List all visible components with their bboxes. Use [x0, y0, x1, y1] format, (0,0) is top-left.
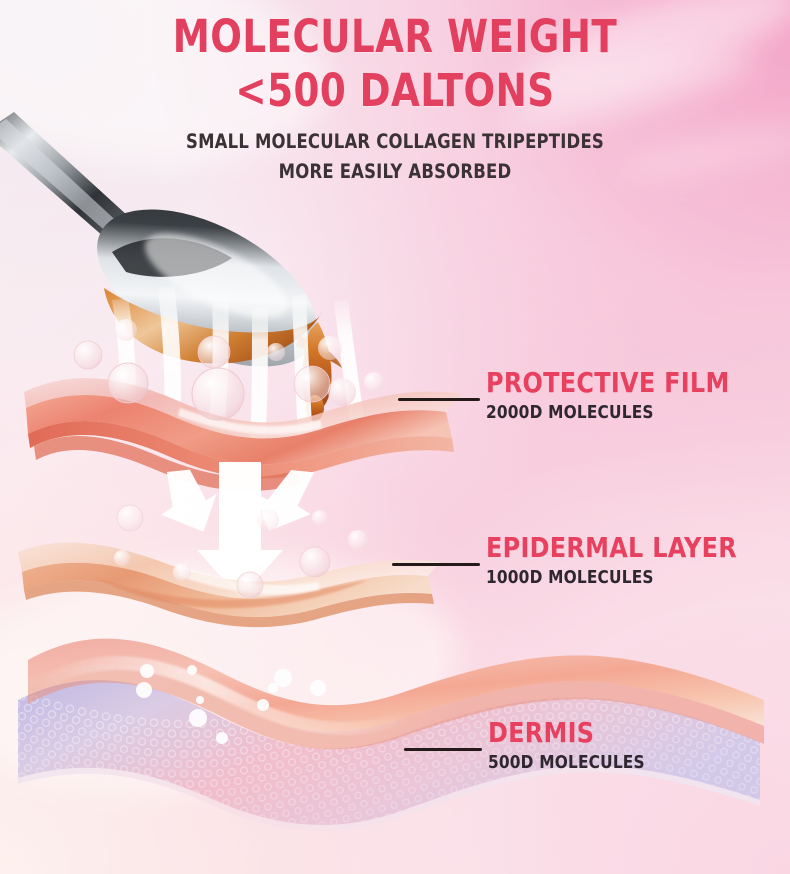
callout-title-epidermal-layer: EPIDERMAL LAYER — [486, 533, 737, 562]
leader-line-epidermal-layer — [392, 563, 480, 566]
poster-heading-block: MOLECULAR WEIGHT <500 DALTONS SMALL MOLE… — [0, 14, 790, 183]
callout-epidermal-layer: EPIDERMAL LAYER 1000D MOLECULES — [392, 533, 750, 588]
leader-line-protective-film — [398, 398, 480, 401]
callout-subtitle-dermis: 500D MOLECULES — [488, 752, 645, 773]
callout-title-protective-film: PROTECTIVE FILM — [486, 368, 730, 397]
callout-protective-film: PROTECTIVE FILM 2000D MOLECULES — [398, 368, 742, 423]
subtitle-line-2: MORE EASILY ABSORBED — [24, 160, 767, 183]
callout-title-dermis: DERMIS — [488, 718, 645, 747]
poster-canvas: MOLECULAR WEIGHT <500 DALTONS SMALL MOLE… — [0, 0, 790, 874]
layer-dermis — [6, 639, 775, 857]
subtitle-line-1: SMALL MOLECULAR COLLAGEN TRIPEPTIDES — [24, 130, 767, 153]
leader-line-dermis — [404, 748, 482, 751]
callout-dermis: DERMIS 500D MOLECULES — [404, 718, 653, 773]
callout-subtitle-protective-film: 2000D MOLECULES — [486, 402, 730, 423]
title-line-1: MOLECULAR WEIGHT — [32, 14, 759, 59]
callout-subtitle-epidermal-layer: 1000D MOLECULES — [486, 567, 737, 588]
title-line-2: <500 DALTONS — [32, 68, 759, 113]
